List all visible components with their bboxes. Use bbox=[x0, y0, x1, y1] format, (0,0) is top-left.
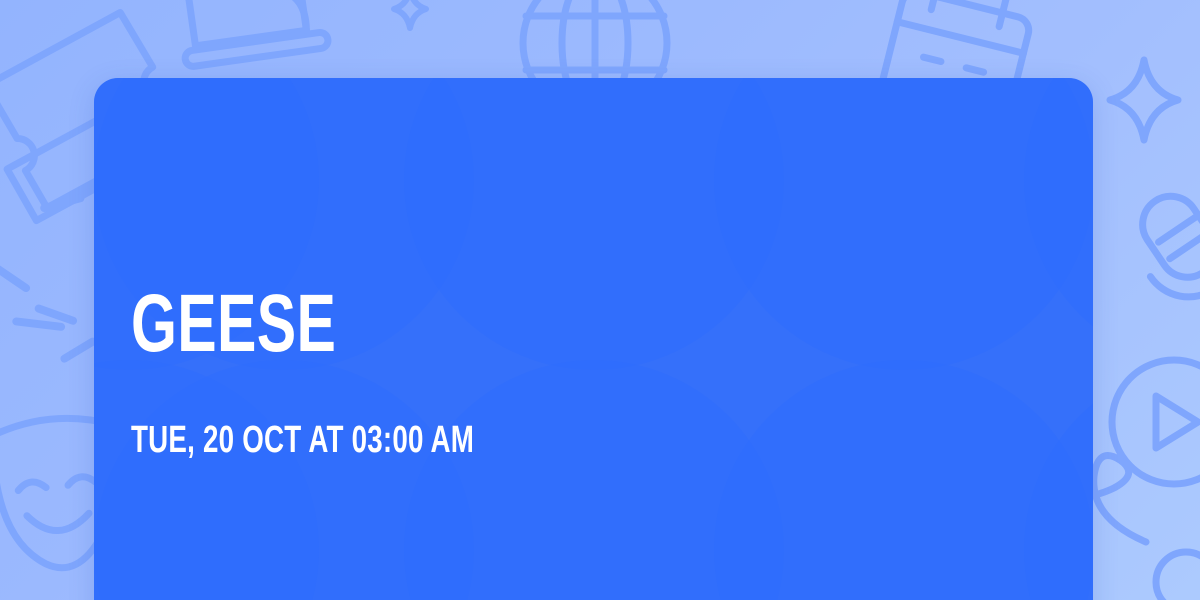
card-content: GEESE Tue, 20 Oct at 03:00 AM bbox=[131, 78, 1051, 600]
event-card[interactable]: GEESE Tue, 20 Oct at 03:00 AM bbox=[94, 78, 1093, 600]
confetti-icon bbox=[0, 185, 94, 321]
microphone-icon bbox=[1117, 175, 1200, 343]
sparkle-icon bbox=[1110, 60, 1178, 140]
event-datetime: Tue, 20 Oct at 03:00 AM bbox=[131, 418, 474, 462]
laptop-icon bbox=[172, 0, 329, 67]
confetti-icon bbox=[16, 314, 94, 364]
event-title: GEESE bbox=[131, 276, 336, 372]
sparkle-icon bbox=[394, 0, 426, 28]
event-card-page: GEESE Tue, 20 Oct at 03:00 AM bbox=[0, 0, 1200, 600]
